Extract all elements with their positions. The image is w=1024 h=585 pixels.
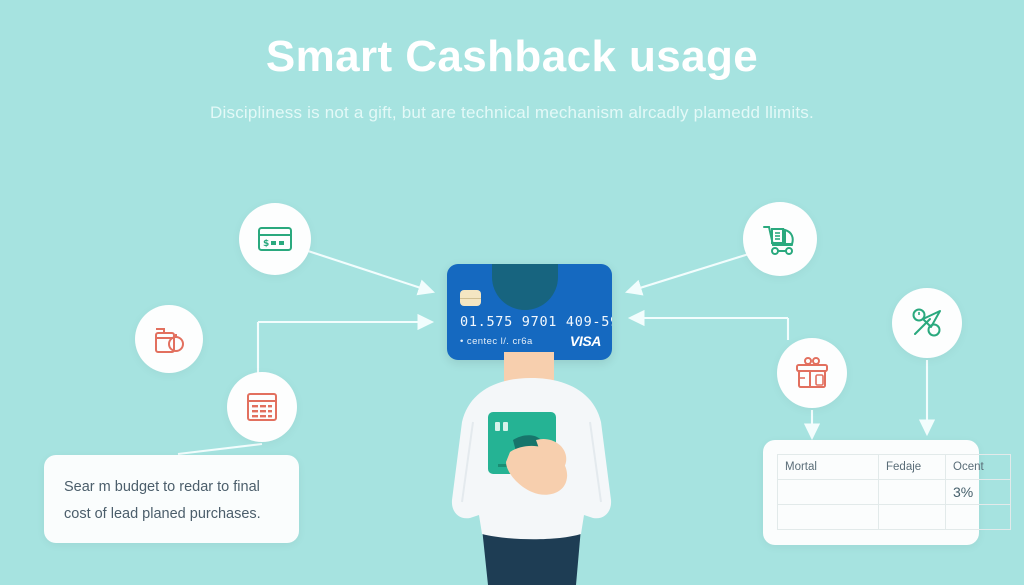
card-holder-name: • centec l/. cr6a xyxy=(460,336,533,347)
arrow-calendar-to-callout xyxy=(178,444,262,454)
arrow-cart-to-card xyxy=(627,253,752,292)
gift-bag-icon[interactable] xyxy=(777,338,847,408)
credit-card: 01.575 9701 409-5980 • centec l/. cr6a V… xyxy=(447,264,612,360)
card-decoration xyxy=(492,264,558,310)
rates-table: Mortal Fedaje Ocent 3% xyxy=(777,454,1011,530)
table-cell xyxy=(879,505,946,530)
visa-logo: VISA xyxy=(570,333,601,349)
shopping-cart-glyph xyxy=(759,218,801,260)
drink-cup-icon[interactable] xyxy=(135,305,203,373)
calendar-icon[interactable] xyxy=(227,372,297,442)
table-header-cell: Mortal xyxy=(778,455,879,480)
table-cell-percent: 3% xyxy=(946,480,1011,505)
table-header-cell: Ocent xyxy=(946,455,1011,480)
held-card-chip-a xyxy=(495,422,500,431)
svg-text:$: $ xyxy=(263,239,269,249)
table-header-cell: Fedaje xyxy=(879,455,946,480)
gift-bag-glyph xyxy=(792,353,832,393)
person-illustration xyxy=(418,352,644,585)
table-cell xyxy=(778,505,879,530)
payment-card-icon[interactable]: $ xyxy=(239,203,311,275)
table-panel: Mortal Fedaje Ocent 3% xyxy=(763,440,979,545)
calendar-glyph xyxy=(243,388,281,426)
table-row: 3% xyxy=(778,480,1011,505)
callout-box: Sear m budget to redar to final cost of … xyxy=(44,455,299,543)
callout-text: Sear m budget to redar to final cost of … xyxy=(64,474,283,528)
scissors-icon[interactable] xyxy=(892,288,962,358)
card-chip-icon xyxy=(460,290,481,306)
scissors-glyph xyxy=(907,303,947,343)
table-cell xyxy=(778,480,879,505)
table-header-row: Mortal Fedaje Ocent xyxy=(778,455,1011,480)
table-cell xyxy=(879,480,946,505)
held-card-chip-b xyxy=(503,422,508,431)
card-number: 01.575 9701 409-5980 xyxy=(460,314,612,330)
shopping-cart-icon[interactable] xyxy=(743,202,817,276)
infographic-canvas: Smart Cashback usage Discipliness is not… xyxy=(0,0,1024,585)
table-row xyxy=(778,505,1011,530)
table-cell xyxy=(946,505,1011,530)
drink-cup-glyph xyxy=(150,320,188,358)
page-subtitle: Discipliness is not a gift, but are tech… xyxy=(0,103,1024,123)
arrow-payment-to-card xyxy=(305,250,433,292)
page-title: Smart Cashback usage xyxy=(0,34,1024,80)
payment-card-glyph: $ xyxy=(255,219,295,259)
